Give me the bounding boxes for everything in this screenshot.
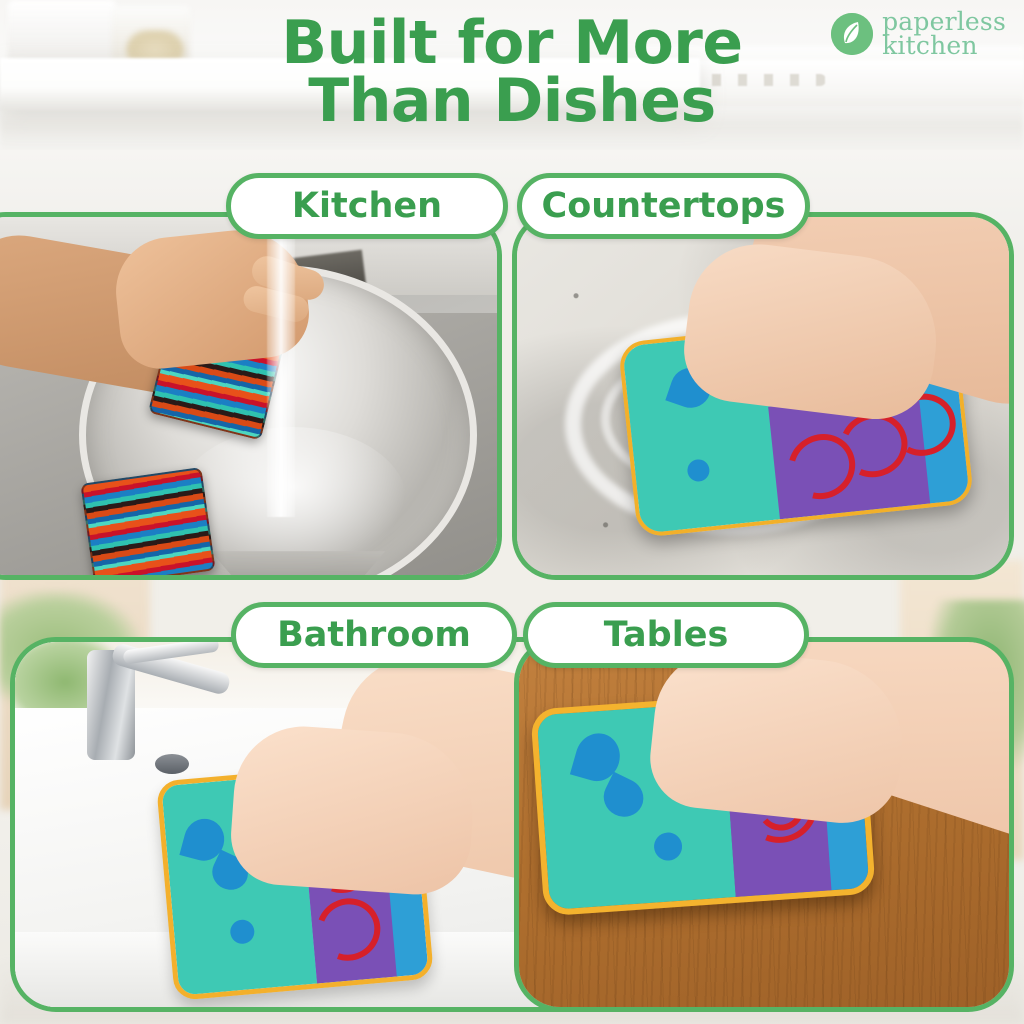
countertops-photo bbox=[517, 217, 1009, 575]
panel-label-countertops[interactable]: Countertops bbox=[517, 173, 810, 239]
panel-label-kitchen[interactable]: Kitchen bbox=[226, 173, 508, 239]
bathroom-sink-drain bbox=[155, 754, 189, 774]
brand-word-kitchen: kitchen bbox=[882, 34, 1006, 58]
headline-line-2: Than Dishes bbox=[0, 72, 1024, 130]
tables-photo bbox=[519, 642, 1009, 1007]
kitchen-photo bbox=[0, 217, 497, 575]
kitchen-water-stream bbox=[267, 217, 295, 517]
panel-countertops[interactable] bbox=[512, 212, 1014, 580]
brand-wordmark: paperless kitchen bbox=[882, 10, 1006, 58]
panel-kitchen[interactable] bbox=[0, 212, 502, 580]
brand-logo[interactable]: paperless kitchen bbox=[831, 10, 1006, 58]
kitchen-cloth-secondary bbox=[80, 467, 215, 580]
leaf-in-circle-icon bbox=[831, 13, 873, 55]
panel-label-tables[interactable]: Tables bbox=[523, 602, 809, 668]
panel-tables[interactable] bbox=[514, 637, 1014, 1012]
panel-label-bathroom[interactable]: Bathroom bbox=[231, 602, 517, 668]
kitchen-pot-stand bbox=[203, 551, 393, 580]
